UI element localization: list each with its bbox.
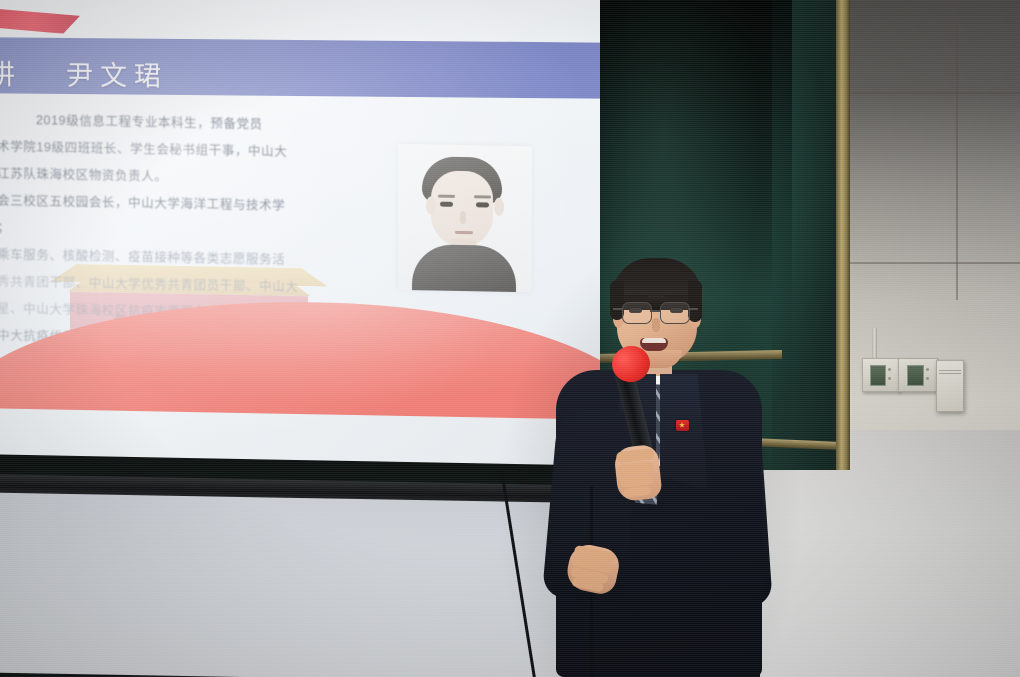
speaker-nose bbox=[652, 318, 660, 332]
speaker-hair-side-right bbox=[688, 280, 702, 322]
slide-title-text: 讲尹文珺 bbox=[0, 53, 548, 94]
speaker-teeth bbox=[642, 338, 666, 343]
id-photo bbox=[398, 144, 532, 292]
slide-speaker-name: 尹文珺 bbox=[66, 61, 168, 92]
light-switch-panel-right[interactable] bbox=[898, 358, 938, 392]
photo-scene: 讲尹文珺 2019级信息工程专业本科生，预备党员 技术学院19级四班班长、学生会… bbox=[0, 0, 1020, 677]
eyeglasses-arm-right-icon bbox=[688, 308, 698, 310]
speaker-eyebrow-left bbox=[624, 295, 648, 299]
speaker bbox=[520, 250, 790, 677]
electrical-conduit bbox=[872, 328, 877, 358]
eyeglasses-lens-right-icon bbox=[660, 302, 690, 324]
chalkboard-frame bbox=[836, 0, 850, 470]
eyeglasses-lens-left-icon bbox=[622, 302, 652, 324]
presentation-slide: 讲尹文珺 2019级信息工程专业本科生，预备党员 技术学院19级四班班长、学生会… bbox=[0, 0, 600, 420]
wall-outlet-box[interactable] bbox=[936, 360, 964, 412]
speaker-hand-holding-mic bbox=[613, 444, 662, 502]
eyeglasses-bridge-icon bbox=[650, 310, 660, 312]
speaker-eyebrow-right bbox=[665, 295, 689, 299]
light-switch-panel-left[interactable] bbox=[862, 358, 900, 392]
eyeglasses-arm-left-icon bbox=[613, 308, 623, 310]
slide-title-left: 讲 bbox=[0, 60, 22, 90]
